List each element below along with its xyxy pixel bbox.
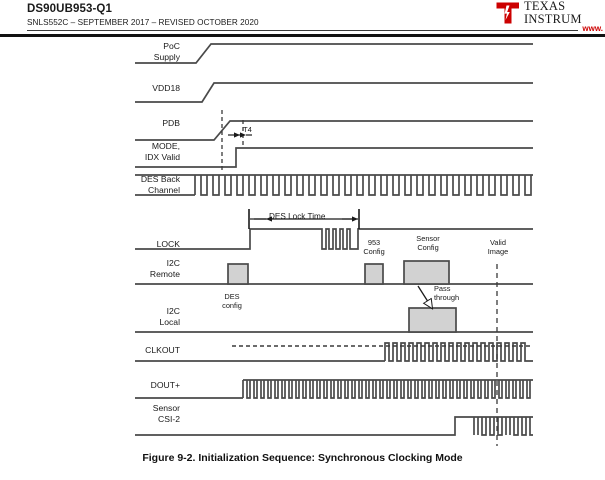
waveform-vdd18 bbox=[135, 83, 533, 102]
waveform-mode-idx-valid bbox=[135, 148, 533, 167]
ti-flag-icon bbox=[495, 1, 521, 25]
ti-logo-line2: INSTRUM bbox=[524, 13, 582, 26]
waveform-dout-plus-burst bbox=[243, 380, 530, 398]
box-953-config bbox=[365, 264, 383, 284]
activity-boxes bbox=[228, 261, 456, 332]
box-sensor-config bbox=[404, 261, 449, 284]
waveform-pdb bbox=[135, 121, 533, 140]
ti-logo-text: TEXAS INSTRUM bbox=[524, 0, 582, 25]
box-des-config bbox=[228, 264, 248, 284]
ti-logo-line1: TEXAS bbox=[524, 0, 582, 13]
waveform-sensor-csi2-base bbox=[135, 417, 474, 435]
waveform-des-back-channel-burst bbox=[195, 175, 531, 195]
waveform-lock bbox=[135, 229, 533, 249]
document-title: DS90UB953-Q1 bbox=[27, 3, 112, 15]
texas-instruments-logo: TEXAS INSTRUM www. bbox=[487, 0, 605, 32]
ti-website-text: www. bbox=[582, 24, 603, 33]
waveform-poc-supply bbox=[135, 44, 533, 63]
figure-caption: Figure 9-2. Initialization Sequence: Syn… bbox=[0, 452, 605, 464]
waveform-sensor-csi2-burst bbox=[474, 417, 533, 435]
arrow-pass-through bbox=[418, 286, 432, 308]
timing-diagram: PoC Supply VDD18 PDB MODE, IDX Valid DES… bbox=[0, 36, 605, 446]
page-header: DS90UB953-Q1 SNLS552C – SEPTEMBER 2017 –… bbox=[0, 0, 605, 40]
waveform-canvas bbox=[0, 36, 605, 446]
box-i2c-local-passthrough bbox=[409, 308, 456, 332]
document-subtitle: SNLS552C – SEPTEMBER 2017 – REVISED OCTO… bbox=[27, 18, 259, 27]
